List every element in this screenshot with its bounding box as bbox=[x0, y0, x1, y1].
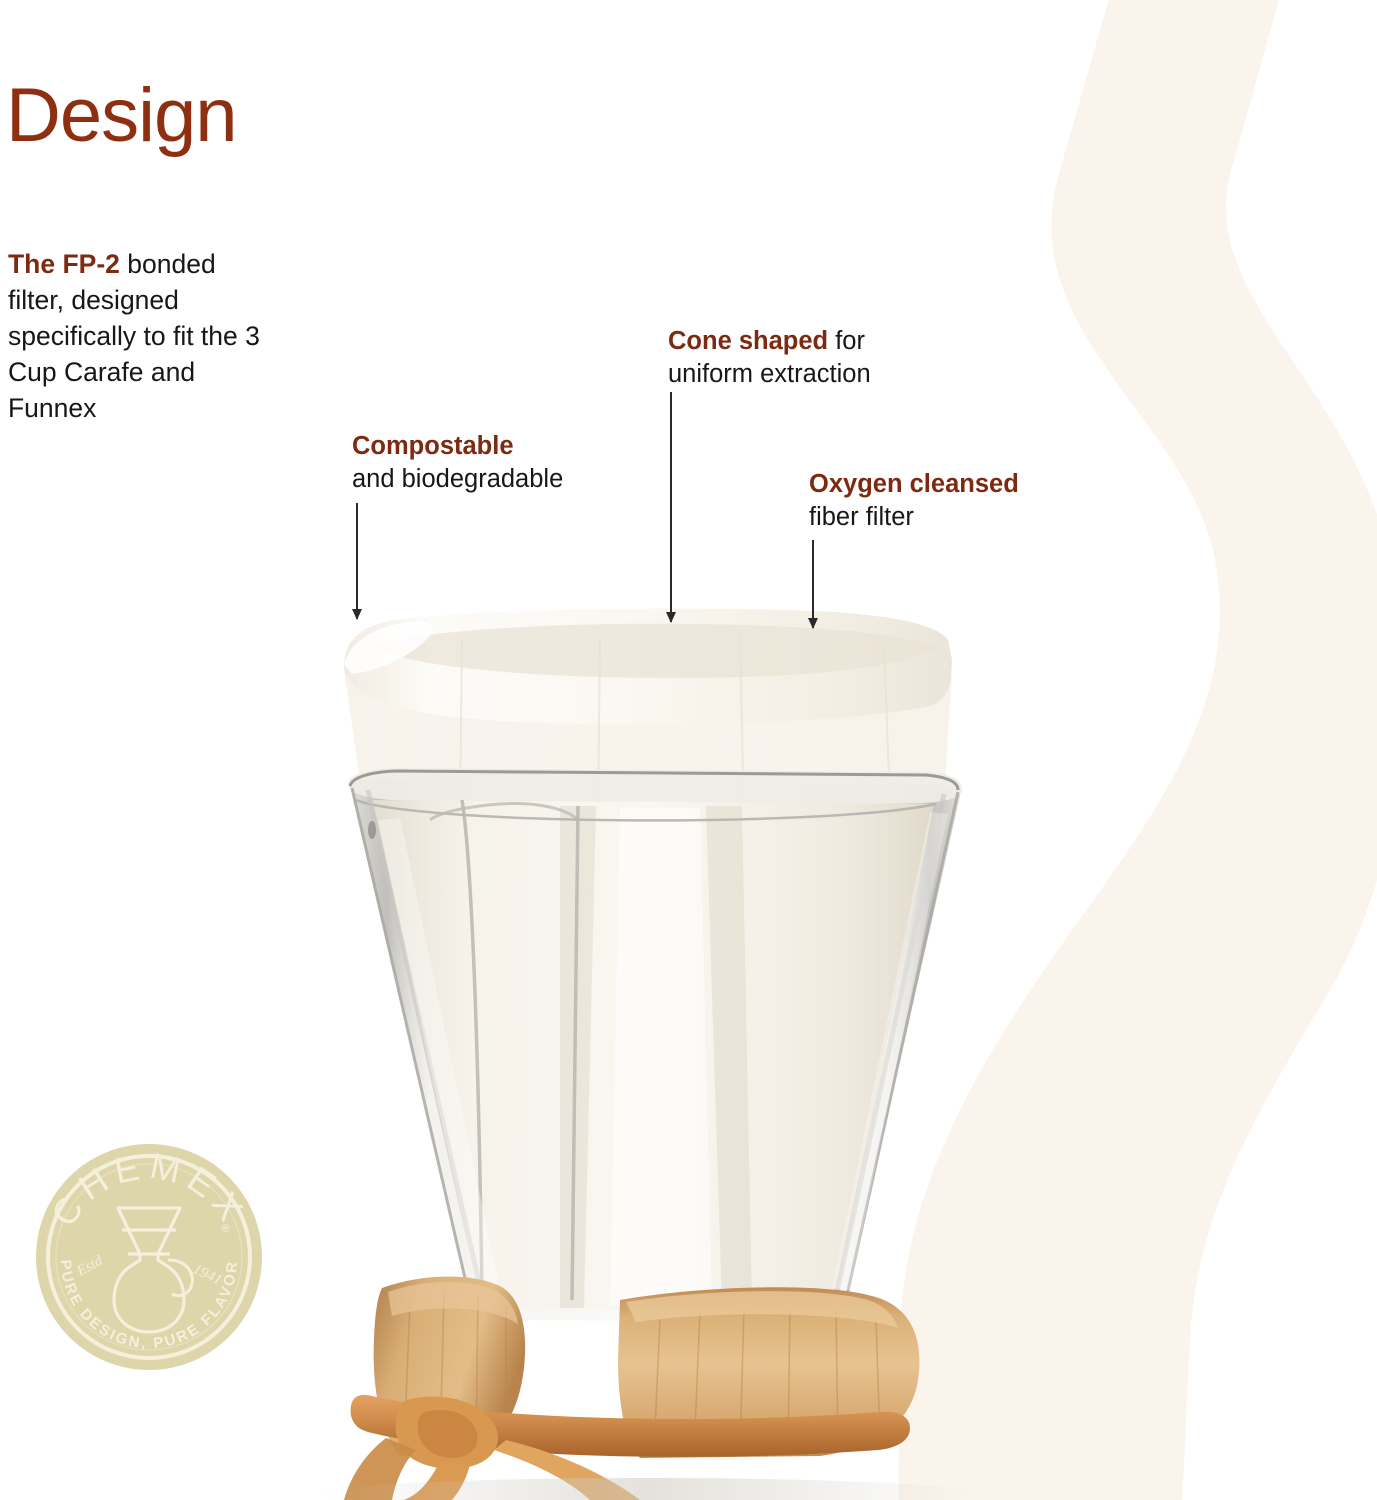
callout-oxygen-line1: Oxygen cleansed bbox=[809, 468, 1019, 501]
arrow-shaft bbox=[812, 540, 814, 628]
callout-oxygen-bold: Oxygen cleansed bbox=[809, 470, 1019, 498]
intro-highlight: The FP-2 bbox=[8, 249, 120, 279]
callout-compostable: Compostable and biodegradable bbox=[352, 430, 563, 496]
callout-cone-rest: for bbox=[828, 327, 865, 355]
arrow-head bbox=[808, 618, 818, 629]
callout-cone-line1: Cone shaped for bbox=[668, 325, 871, 358]
callout-cone-shaped: Cone shaped for uniform extraction bbox=[668, 325, 871, 391]
arrow-shaft bbox=[670, 392, 672, 622]
chemex-logo-badge: CHEMEX ® Estd 1941 PURE DESIGN, PURE FLA… bbox=[34, 1142, 264, 1372]
callout-cone-line2: uniform extraction bbox=[668, 358, 871, 391]
page-title: Design bbox=[6, 78, 237, 154]
callout-cone-bold: Cone shaped bbox=[668, 327, 828, 355]
callout-oxygen-cleansed: Oxygen cleansed fiber filter bbox=[809, 468, 1019, 534]
callout-compostable-line2: and biodegradable bbox=[352, 463, 563, 496]
intro-paragraph: The FP-2 bonded filter, designed specifi… bbox=[8, 246, 273, 426]
callout-compostable-bold: Compostable bbox=[352, 432, 514, 460]
callout-compostable-line1: Compostable bbox=[352, 430, 563, 463]
arrow-shaft bbox=[356, 503, 358, 619]
arrow-head bbox=[666, 612, 676, 623]
arrow-head bbox=[352, 609, 362, 620]
callout-oxygen-line2: fiber filter bbox=[809, 501, 1019, 534]
